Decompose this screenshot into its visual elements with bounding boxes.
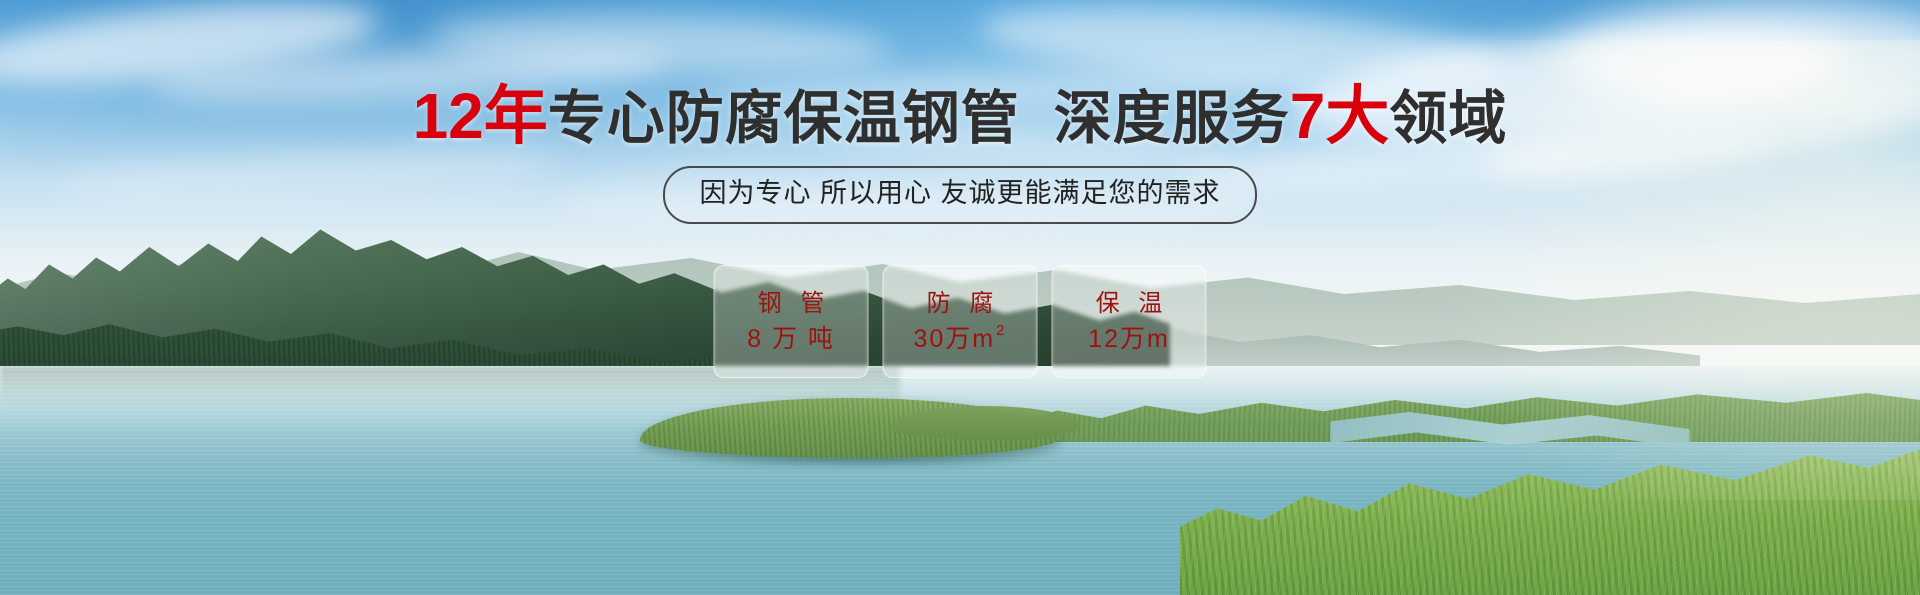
banner-subtitle-wrapper: 因为专心 所以用心 友诚更能满足您的需求 [0,166,1920,224]
stat-card-steel-pipe: 钢 管 8 万 吨 [714,265,869,378]
headline-service: 深度服务 [1054,86,1290,151]
banner-headline: 12年专心防腐保温钢管深度服务7大领域 [0,84,1920,148]
hero-banner: 12年专心防腐保温钢管深度服务7大领域 因为专心 所以用心 友诚更能满足您的需求… [0,0,1920,595]
banner-content: 12年专心防腐保温钢管深度服务7大领域 因为专心 所以用心 友诚更能满足您的需求… [0,0,1920,595]
headline-fields-measure: 大 [1325,80,1389,152]
stat-card-anticorrosion: 防 腐 30万m2 [883,265,1038,378]
stat-card-value: 12万m [1088,327,1170,352]
headline-fields-number: 7 [1290,80,1326,152]
stat-card-value-text: 30万m [914,327,996,352]
headline-years-number: 12 [413,80,484,152]
headline-fields-label: 领域 [1389,86,1507,151]
stat-card-title: 保 温 [1090,292,1169,316]
headline-specialty: 专心防腐保温钢管 [548,86,1020,151]
stat-card-title: 钢 管 [752,292,831,316]
stat-card-value-superscript: 2 [996,323,1006,338]
banner-subtitle-pill: 因为专心 所以用心 友诚更能满足您的需求 [663,166,1256,224]
stat-card-title: 防 腐 [921,292,1000,316]
stat-card-value-text: 12万m [1088,327,1170,352]
stat-card-list: 钢 管 8 万 吨 防 腐 30万m2 保 温 12万m [714,265,1207,378]
headline-years-unit: 年 [484,80,548,152]
stat-card-value: 8 万 吨 [747,327,835,352]
stat-card-insulation: 保 温 12万m [1052,265,1207,378]
stat-card-value-text: 8 万 吨 [747,327,835,352]
stat-card-value: 30万m2 [914,327,1007,352]
